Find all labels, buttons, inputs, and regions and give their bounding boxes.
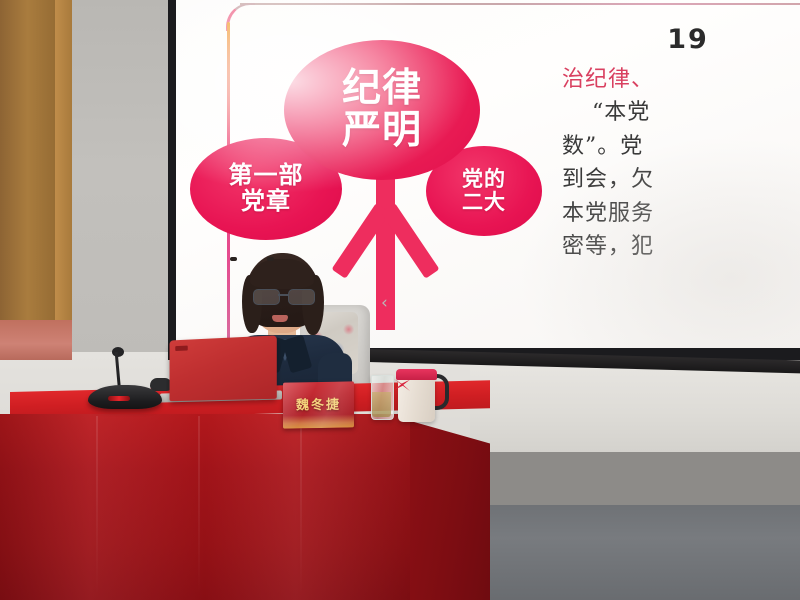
bubble-right-line1: 党的 [462,168,506,191]
slide-body-line-4: 到会，欠 [562,163,800,196]
bubble-strict-discipline: 纪律 严明 [284,40,480,180]
thermos-lid[interactable] [396,369,437,380]
cloth-fold-1 [96,416,98,596]
presenter-eye-right [267,257,274,261]
slide-body-line-6: 密等，犯 [562,230,800,263]
door-edge [55,0,72,330]
nameplate-glass-reflection [283,381,354,428]
glasses-lens-left [253,289,280,305]
glasses-bridge [278,294,289,296]
slide-prev-arrow-icon[interactable]: ‹ [381,293,388,313]
bubble-main-line1: 纪律 [342,68,422,110]
bubble-right-line2: 二大 [462,191,506,214]
presenter-mouth [272,315,288,322]
slide-body-line-2: “本党 [562,96,800,129]
presenter-eye-left [230,257,237,261]
cloth-fold-2 [198,416,200,596]
slide-body-line-1: 治纪律、 [562,63,800,96]
door-panel[interactable] [0,0,55,330]
presenter-hair-fringe [250,259,314,289]
desk-side-panel [400,418,490,600]
slide-border-top [240,3,800,5]
tea-liquid [372,392,391,417]
door-base-object [0,320,72,360]
slide-text-column: 19 治纪律、 “本党 数”。党 到会，欠 本党服务 密等，犯 [562,24,800,264]
bubble-main-line2: 严明 [342,110,422,152]
glasses-icon [252,289,314,303]
glasses-lens-right [288,289,315,305]
bubble-left-line2: 党章 [229,189,304,215]
slide-body-line-5: 本党服务 [562,197,800,230]
door-frame [0,0,72,330]
bubble-left-line1: 第一部 [229,163,304,189]
laptop-logo [175,346,187,351]
lecture-scene: · · · · 第一部 党章 党的 二大 [0,0,800,600]
cloth-fold-3 [300,416,302,596]
desk-front-cloth [0,414,410,600]
laptop[interactable] [170,335,277,401]
microphone-led-indicator [108,396,130,401]
slide-body-line-3: 数”。党 [562,130,800,163]
slide-year-heading: 19 [562,24,800,55]
nameplate: 魏冬捷 [283,381,354,428]
